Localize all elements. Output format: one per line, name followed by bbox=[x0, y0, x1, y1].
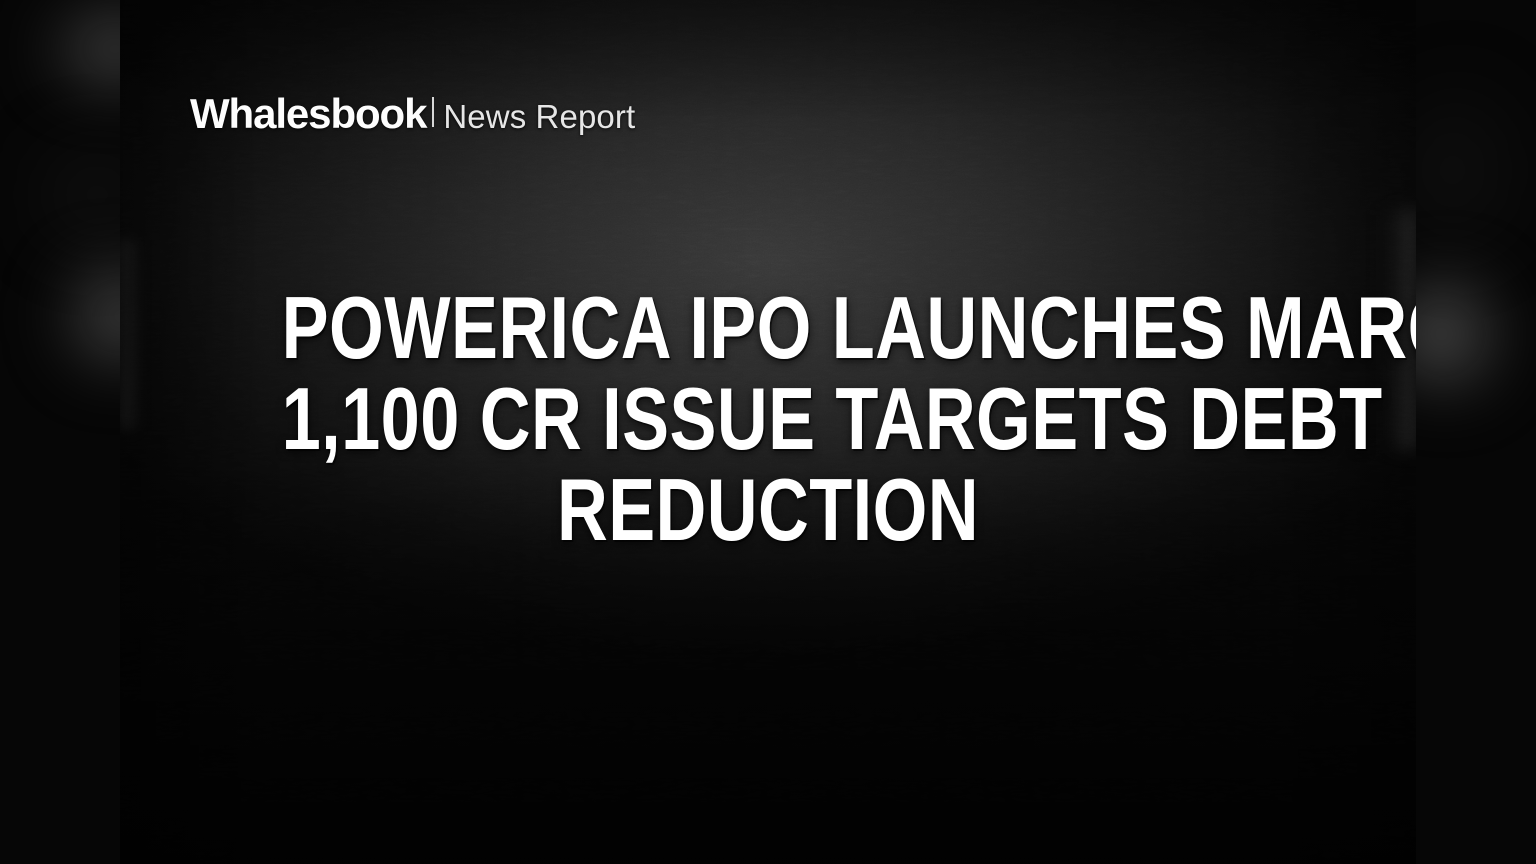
backdrop-glow-right-faint bbox=[1398, 60, 1536, 280]
headline-line-1: POWERICA IPO LAUNCHES MARCH 24: RS bbox=[282, 282, 1255, 373]
headline-line-3: REDUCTION bbox=[282, 464, 1255, 555]
main-panel: Whalesbook News Report POWERICA IPO LAUN… bbox=[120, 0, 1416, 864]
brand-logo: Whalesbook News Report bbox=[190, 93, 635, 135]
brand-separator-icon bbox=[432, 97, 434, 127]
headline-line-2: 1,100 CR ISSUE TARGETS DEBT bbox=[282, 373, 1255, 464]
brand-wordmark: Whalesbook bbox=[190, 93, 426, 135]
panel-content: Whalesbook News Report POWERICA IPO LAUN… bbox=[120, 0, 1416, 864]
headline: POWERICA IPO LAUNCHES MARCH 24: RS 1,100… bbox=[120, 282, 1416, 555]
news-report-card: Whalesbook News Report POWERICA IPO LAUN… bbox=[0, 0, 1536, 864]
brand-section-label: News Report bbox=[443, 100, 635, 133]
backdrop-glow-right-middle bbox=[1404, 268, 1508, 400]
